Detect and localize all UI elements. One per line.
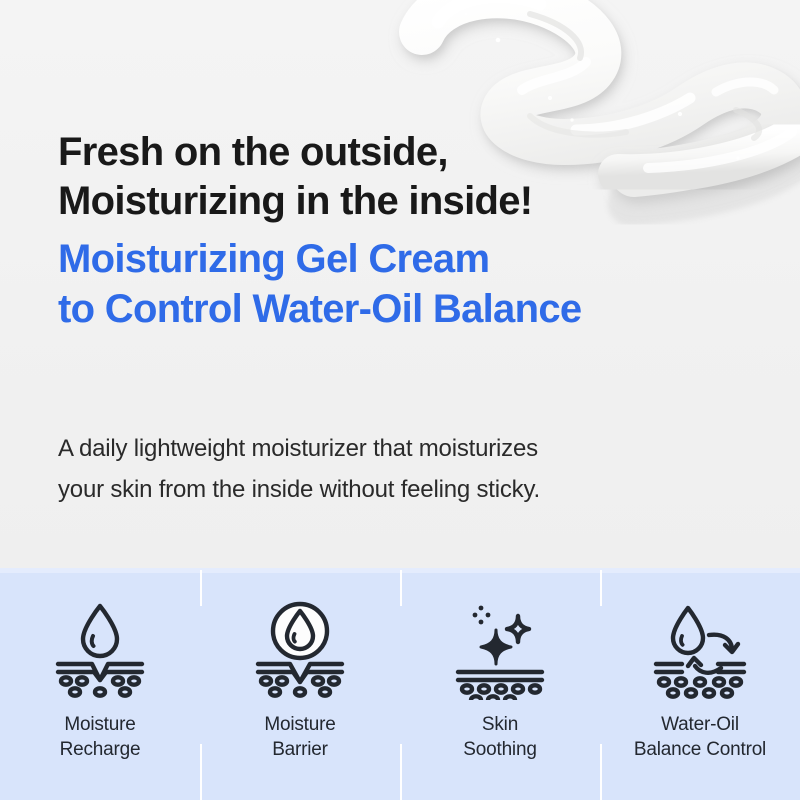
feature-item-moisture-barrier: Moisture Barrier	[200, 568, 400, 800]
feature-label: Skin Soothing	[463, 712, 536, 762]
headline-primary: Fresh on the outside, Moisturizing in th…	[58, 128, 758, 226]
hero-copy-block: Fresh on the outside, Moisturizing in th…	[58, 128, 758, 334]
droplet-in-circle-barrier-icon	[248, 590, 352, 700]
product-detail-page: Fresh on the outside, Moisturizing in th…	[0, 0, 800, 800]
feature-label: Water-Oil Balance Control	[634, 712, 766, 762]
feature-label: Moisture Barrier	[264, 712, 335, 762]
droplet-with-circulation-arrows-icon	[648, 590, 752, 700]
feature-benefits-strip: Moisture Recharge	[0, 568, 800, 800]
feature-item-water-oil-balance: Water-Oil Balance Control	[600, 568, 800, 800]
headline-accent: Moisturizing Gel Cream to Control Water-…	[58, 234, 758, 334]
droplet-absorbing-into-skin-icon	[48, 590, 152, 700]
feature-item-moisture-recharge: Moisture Recharge	[0, 568, 200, 800]
hero-description: A daily lightweight moisturizer that moi…	[58, 428, 758, 510]
feature-label: Moisture Recharge	[60, 712, 141, 762]
sparkles-over-skin-icon	[448, 590, 552, 700]
hero-section: Fresh on the outside, Moisturizing in th…	[0, 0, 800, 568]
feature-item-skin-soothing: Skin Soothing	[400, 568, 600, 800]
